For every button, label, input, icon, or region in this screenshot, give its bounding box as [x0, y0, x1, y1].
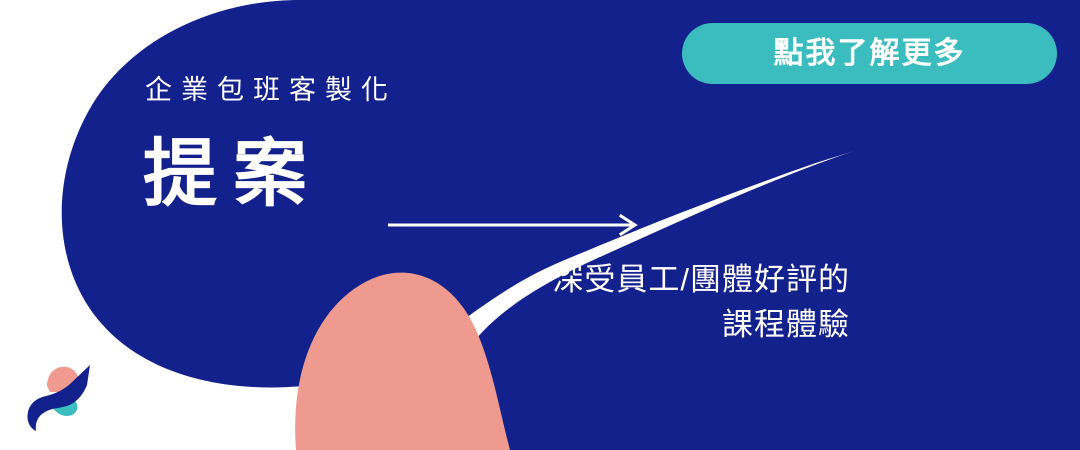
- subtitle-block: 深受員工/團體好評的 課程體驗: [420, 258, 850, 348]
- arrow-right-icon: [388, 212, 644, 238]
- cta-learn-more-button[interactable]: 點我了解更多: [682, 23, 1057, 84]
- page-title: 提案: [143, 137, 323, 211]
- promo-banner: 點我了解更多 企業包班客製化 提案 深受員工/團體好評的 課程體驗: [0, 0, 1080, 450]
- bird-logo-icon: [24, 362, 100, 432]
- eyebrow-text: 企業包班客製化: [145, 68, 397, 107]
- subtitle-line-1: 深受員工/團體好評的: [420, 258, 850, 303]
- subtitle-line-2: 課程體驗: [420, 303, 850, 348]
